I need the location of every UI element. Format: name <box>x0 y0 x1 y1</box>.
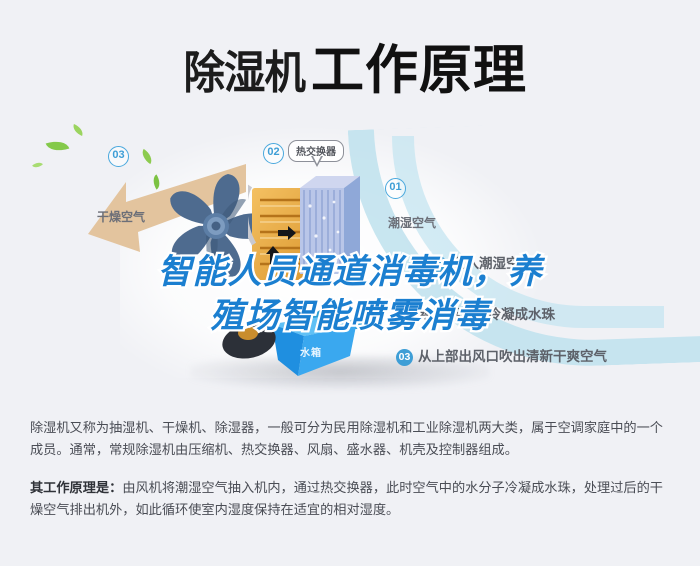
callout-stem-inner <box>313 156 321 164</box>
legend-item-01: 01吸入潮湿空气 <box>430 252 533 273</box>
diagram-label-dry-air: 干燥空气 <box>97 208 145 225</box>
paragraph-spacer <box>30 461 675 477</box>
body-paragraph-2-lead: 其工作原理是： <box>30 480 122 495</box>
body-paragraph-2: 其工作原理是：由风机将潮湿空气抽入机内，通过热交换器，此时空气中的水分子冷凝成水… <box>30 477 675 521</box>
legend-text-02: 经过蒸发器冷凝成水珠 <box>420 307 555 322</box>
body-copy: 除湿机又称为抽湿机、干燥机、除湿器，一般可分为民用除湿机和工业除湿机两大类，属于… <box>30 417 675 521</box>
diagram-badge-03: 03 <box>108 146 129 167</box>
page-title-part1: 除湿机 <box>184 36 305 101</box>
diagram-label-humid-air: 潮湿空气 <box>388 214 436 231</box>
machine-wheel-hub <box>238 326 258 340</box>
body-paragraph-2-rest: 由风机将潮湿空气抽入机内，通过热交换器，此时空气中的水分子冷凝成水珠，处理过后的… <box>30 480 663 517</box>
infographic-page: 除湿机工作原理 <box>0 0 700 566</box>
legend-text-03: 从上部出风口吹出清新干爽空气 <box>418 349 607 364</box>
legend-item-03: 03从上部出风口吹出清新干爽空气 <box>396 345 607 366</box>
legend-badge-01: 01 <box>430 256 447 273</box>
heat-exchanger <box>300 166 366 284</box>
page-title: 除湿机工作原理 <box>0 28 700 104</box>
leaf-icon <box>71 124 85 136</box>
leaf-icon <box>46 137 70 155</box>
legend-text-01: 吸入潮湿空气 <box>452 256 533 271</box>
dehumidifier-diagram: 热交换器 水箱 03 02 01 干燥空气 潮湿空气 01吸入潮湿空气 0 <box>0 118 700 398</box>
legend-badge-02: 02 <box>398 307 415 324</box>
page-title-part2: 工作原理 <box>311 28 527 104</box>
legend-badge-03: 03 <box>396 349 413 366</box>
diagram-badge-02: 02 <box>263 143 284 164</box>
water-tank-label: 水箱 <box>300 344 322 359</box>
legend-item-02: 02经过蒸发器冷凝成水珠 <box>398 303 555 324</box>
leaf-icon <box>32 160 43 170</box>
body-paragraph-1: 除湿机又称为抽湿机、干燥机、除湿器，一般可分为民用除湿机和工业除湿机两大类，属于… <box>30 417 675 461</box>
diagram-badge-01: 01 <box>385 178 406 199</box>
